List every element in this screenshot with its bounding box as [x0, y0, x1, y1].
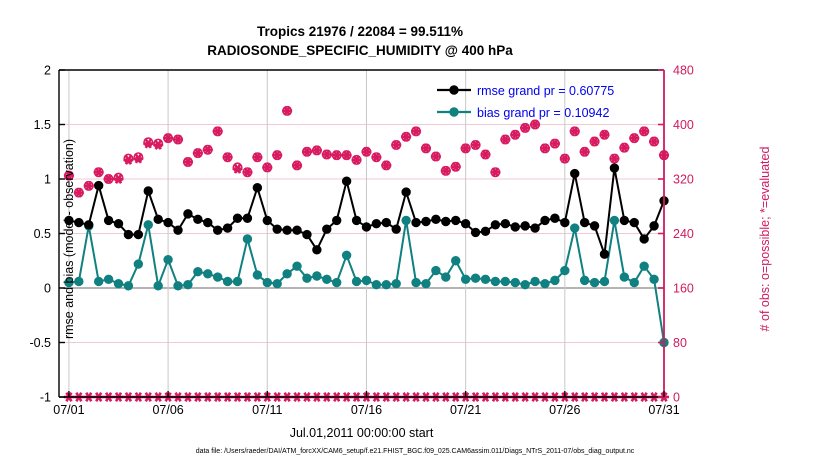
series-point-bias	[124, 282, 132, 290]
series-point-bias	[491, 277, 499, 285]
chart-plot-area: -1-0.500.511.5208016024032040048007/0107…	[0, 0, 830, 470]
series-point-rmse	[253, 184, 261, 192]
series-point-rmse	[154, 215, 162, 223]
series-point-rmse	[402, 188, 410, 196]
series-point-bias	[590, 278, 598, 286]
series-point-bias	[154, 282, 162, 290]
series-point-rmse	[640, 235, 648, 243]
series-point-bias	[432, 266, 440, 274]
series-point-rmse	[273, 225, 281, 233]
series-point-bias	[184, 281, 192, 289]
series-point-bias	[303, 274, 311, 282]
series-point-rmse	[471, 228, 479, 236]
series-point-rmse	[412, 218, 420, 226]
y-ticklabel-right: 480	[673, 64, 694, 78]
series-point-rmse	[551, 214, 559, 222]
series-point-rmse	[104, 216, 112, 224]
series-point-bias	[352, 277, 360, 285]
series-point-bias	[571, 224, 579, 232]
series-point-rmse	[194, 215, 202, 223]
y-axis-label-left: rmse and bias (model - observation)	[62, 74, 76, 404]
series-point-rmse	[571, 169, 579, 177]
series-point-rmse	[620, 216, 628, 224]
series-point-bias	[313, 272, 321, 280]
series-point-bias	[551, 276, 559, 284]
series-point-rmse	[511, 223, 519, 231]
series-point-bias	[501, 277, 509, 285]
series-point-bias	[452, 257, 460, 265]
series-point-rmse	[85, 221, 93, 229]
series-point-bias	[630, 278, 638, 286]
series-point-rmse	[293, 226, 301, 234]
series-point-bias	[580, 276, 588, 284]
series-point-rmse	[144, 187, 152, 195]
series-point-bias	[253, 271, 261, 279]
series-point-rmse	[164, 218, 172, 226]
series-point-rmse	[213, 226, 221, 234]
series-point-rmse	[283, 226, 291, 234]
series-point-bias	[194, 267, 202, 275]
series-point-bias	[273, 279, 281, 287]
series-point-bias	[263, 278, 271, 286]
legend-marker	[450, 108, 458, 116]
series-point-bias	[204, 270, 212, 278]
series-point-bias	[293, 262, 301, 270]
series-point-bias	[442, 273, 450, 281]
series-point-bias	[213, 273, 221, 281]
y-ticklabel-right: 400	[673, 118, 694, 132]
series-point-bias	[541, 279, 549, 287]
series-point-rmse	[461, 219, 469, 227]
series-point-bias	[531, 277, 539, 285]
y-ticklabel-left: 1.5	[34, 118, 51, 132]
series-point-bias	[640, 262, 648, 270]
y-ticklabel-left: -0.5	[29, 336, 51, 350]
series-point-bias	[283, 270, 291, 278]
y-ticklabel-left: 0	[44, 282, 51, 296]
series-point-bias	[422, 279, 430, 287]
series-point-rmse	[372, 219, 380, 227]
x-ticklabel: 07/11	[252, 403, 282, 417]
series-point-rmse	[233, 214, 241, 222]
series-point-rmse	[352, 216, 360, 224]
series-point-rmse	[342, 177, 350, 185]
series-point-rmse	[561, 218, 569, 226]
series-point-rmse	[501, 219, 509, 227]
series-point-rmse	[600, 250, 608, 258]
series-point-bias	[471, 274, 479, 282]
series-point-bias	[600, 277, 608, 285]
series-point-bias	[174, 282, 182, 290]
series-point-rmse	[590, 222, 598, 230]
series-point-bias	[650, 275, 658, 283]
series-point-rmse	[323, 225, 331, 233]
series-point-bias	[412, 278, 420, 286]
series-point-rmse	[134, 230, 142, 238]
series-point-rmse	[362, 223, 370, 231]
series-point-bias	[481, 275, 489, 283]
series-point-bias	[114, 279, 122, 287]
series-point-rmse	[263, 216, 271, 224]
series-point-bias	[511, 278, 519, 286]
series-point-rmse	[204, 218, 212, 226]
series-point-bias	[94, 277, 102, 285]
series-point-bias	[620, 273, 628, 281]
series-point-rmse	[481, 227, 489, 235]
series-point-rmse	[382, 218, 390, 226]
x-ticklabel: 07/26	[549, 403, 580, 417]
y-ticklabel-right: 80	[673, 336, 687, 350]
series-point-rmse	[630, 218, 638, 226]
series-point-bias	[104, 275, 112, 283]
y-ticklabel-right: 160	[673, 282, 694, 296]
legend-label: bias grand pr = 0.10942	[477, 106, 609, 120]
series-point-bias	[134, 260, 142, 268]
series-point-rmse	[243, 214, 251, 222]
series-point-rmse	[491, 221, 499, 229]
series-point-rmse	[124, 230, 132, 238]
y-ticklabel-left: 2	[44, 64, 51, 78]
series-point-bias	[233, 277, 241, 285]
series-point-rmse	[303, 230, 311, 238]
series-point-bias	[243, 235, 251, 243]
x-ticklabel: 07/21	[450, 403, 481, 417]
y-ticklabel-left: 0.5	[34, 227, 51, 241]
series-point-rmse	[392, 225, 400, 233]
series-point-rmse	[650, 222, 658, 230]
y-ticklabel-left: 1	[44, 173, 51, 187]
series-point-rmse	[610, 164, 618, 172]
series-point-bias	[223, 277, 231, 285]
series-point-rmse	[422, 217, 430, 225]
y-ticklabel-right: 320	[673, 173, 694, 187]
chart-page: Tropics 21976 / 22084 = 99.511% RADIOSON…	[0, 0, 830, 470]
series-point-bias	[164, 255, 172, 263]
x-axis-label: Jul.01,2011 00:00:00 start	[59, 426, 664, 440]
series-point-bias	[610, 216, 618, 224]
series-point-rmse	[531, 224, 539, 232]
series-point-rmse	[313, 246, 321, 254]
data-file-footer: data file: /Users/raeder/DAI/ATM_forcXX/…	[0, 448, 830, 455]
series-point-rmse	[184, 210, 192, 218]
legend-marker	[450, 86, 458, 94]
x-ticklabel: 07/01	[53, 403, 84, 417]
series-point-rmse	[94, 181, 102, 189]
series-point-rmse	[432, 215, 440, 223]
series-point-rmse	[580, 218, 588, 226]
series-point-rmse	[541, 216, 549, 224]
series-point-bias	[561, 266, 569, 274]
x-ticklabel: 07/06	[152, 403, 183, 417]
y-axis-label-right: # of obs: o=possible; *=evaluated	[758, 74, 772, 404]
series-point-rmse	[333, 216, 341, 224]
series-point-bias	[392, 279, 400, 287]
series-point-bias	[323, 275, 331, 283]
y-ticklabel-left: -1	[40, 391, 51, 405]
x-ticklabel: 07/31	[648, 403, 679, 417]
series-point-bias	[333, 278, 341, 286]
series-point-bias	[372, 281, 380, 289]
series-point-bias	[382, 281, 390, 289]
series-point-bias	[521, 281, 529, 289]
x-ticklabel: 07/16	[351, 403, 382, 417]
series-point-bias	[342, 251, 350, 259]
series-point-rmse	[442, 217, 450, 225]
series-point-rmse	[223, 224, 231, 232]
series-point-bias	[402, 216, 410, 224]
series-point-rmse	[114, 219, 122, 227]
series-point-rmse	[521, 222, 529, 230]
y-ticklabel-right: 240	[673, 227, 694, 241]
series-point-bias	[362, 276, 370, 284]
series-point-bias	[461, 275, 469, 283]
series-point-rmse	[452, 216, 460, 224]
series-point-rmse	[174, 226, 182, 234]
legend-label: rmse grand pr = 0.60775	[477, 84, 614, 98]
series-point-bias	[144, 221, 152, 229]
